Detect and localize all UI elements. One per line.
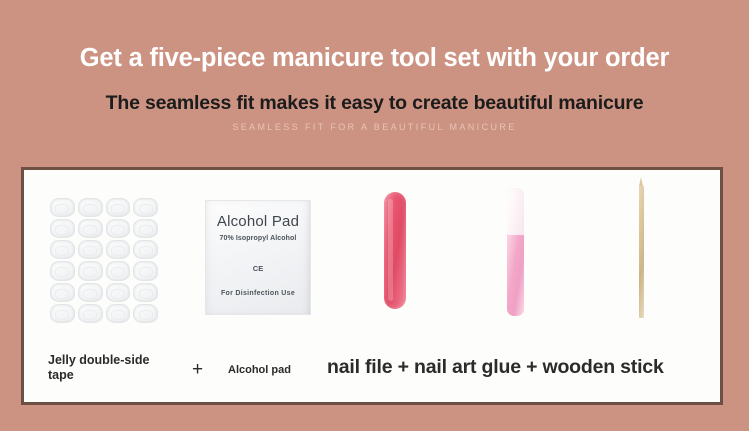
- page-tagline: SEAMLESS FIT FOR A BEAUTIFUL MANICURE: [0, 123, 749, 133]
- ce-mark-icon: CE: [206, 265, 310, 273]
- caption-jelly-tape: Jelly double-side tape: [48, 353, 168, 384]
- tape-tab: [50, 261, 75, 280]
- caption-remaining-items: nail file + nail art glue + wooden stick: [327, 356, 664, 380]
- glue-body: [507, 235, 524, 316]
- jelly-tape-sheet-icon: [50, 198, 158, 323]
- tape-tab: [106, 304, 131, 323]
- alcohol-pad-subtitle: 70% Isopropyl Alcohol: [206, 235, 310, 242]
- tape-tab: [133, 304, 158, 323]
- caption-alcohol-pad: Alcohol pad: [228, 364, 291, 377]
- glue-cap: [507, 188, 524, 235]
- tape-tab: [50, 304, 75, 323]
- tape-tab: [78, 240, 103, 259]
- tape-tab: [106, 261, 131, 280]
- product-showcase-card: Alcohol Pad 70% Isopropyl Alcohol CE For…: [21, 167, 723, 405]
- wooden-stick-icon: [639, 186, 644, 318]
- tape-tab: [133, 283, 158, 302]
- product-captions-row: Jelly double-side tape + Alcohol pad nai…: [24, 342, 720, 402]
- alcohol-pad-packet-icon: Alcohol Pad 70% Isopropyl Alcohol CE For…: [205, 200, 311, 315]
- alcohol-pad-title: Alcohol Pad: [206, 214, 310, 229]
- tape-tab: [133, 198, 158, 217]
- product-image-alcohol-pad: Alcohol Pad 70% Isopropyl Alcohol CE For…: [192, 170, 322, 342]
- page-title: Get a five-piece manicure tool set with …: [0, 44, 749, 72]
- alcohol-pad-footer: For Disinfection Use: [206, 290, 310, 297]
- tape-tab: [106, 219, 131, 238]
- tape-tab: [78, 283, 103, 302]
- product-image-nail-glue: [466, 170, 566, 342]
- nail-glue-icon: [507, 188, 524, 316]
- tape-tab: [78, 261, 103, 280]
- product-images-row: Alcohol Pad 70% Isopropyl Alcohol CE For…: [24, 170, 720, 342]
- tape-tab: [133, 261, 158, 280]
- tape-tab: [50, 240, 75, 259]
- promo-header: Get a five-piece manicure tool set with …: [0, 0, 749, 133]
- tape-tab: [50, 219, 75, 238]
- tape-tab: [106, 283, 131, 302]
- tape-tab: [78, 219, 103, 238]
- product-image-wooden-stick: [590, 170, 690, 342]
- product-image-nail-file: [346, 170, 446, 342]
- tape-tab: [133, 240, 158, 259]
- page-subtitle: The seamless fit makes it easy to create…: [0, 93, 749, 114]
- nail-file-icon: [384, 192, 406, 309]
- tape-tab: [133, 219, 158, 238]
- tape-tab: [78, 198, 103, 217]
- product-image-jelly-tape: [36, 170, 176, 342]
- caption-plus-separator: +: [192, 358, 203, 381]
- tape-tab: [50, 198, 75, 217]
- tape-tab: [78, 304, 103, 323]
- card-inner: Alcohol Pad 70% Isopropyl Alcohol CE For…: [24, 170, 720, 402]
- tape-tab: [106, 198, 131, 217]
- tape-tab: [50, 283, 75, 302]
- tape-tab: [106, 240, 131, 259]
